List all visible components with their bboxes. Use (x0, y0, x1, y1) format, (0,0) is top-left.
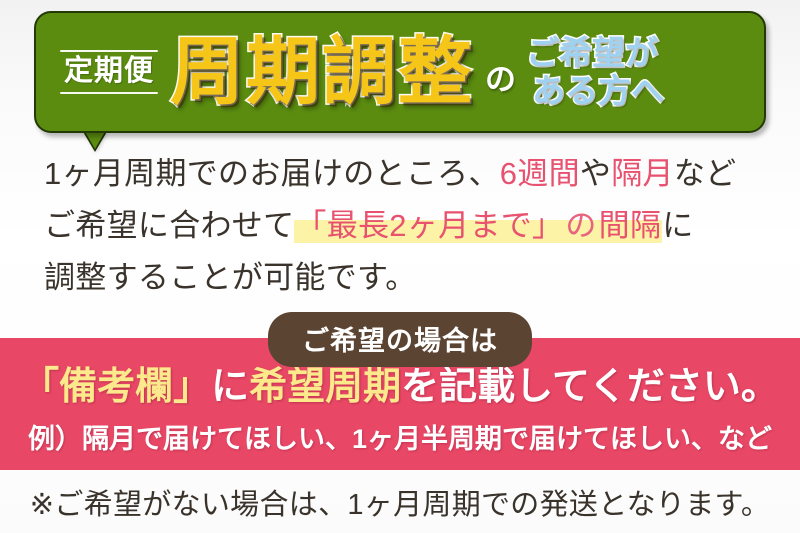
banner-subtitle-line-2: ある方へ (526, 72, 664, 110)
callout-cycle-name: 希望周期 (249, 366, 401, 408)
callout-part-d: を記載してください。 (401, 366, 779, 408)
banner-title: 周期調整 (170, 35, 474, 109)
status-badge: ご希望の場合は (268, 312, 532, 367)
callout-main-text: 「備考欄」に希望周期を記載してください。 (21, 368, 779, 406)
body-line-2-highlight-max: 「最長2ヶ月まで」 (294, 208, 564, 243)
subscription-label: 定期便 (64, 55, 154, 88)
subscription-label-block: 定期便 (60, 46, 158, 97)
rule-bottom (60, 92, 158, 94)
body-line-2-part-c: の (564, 208, 597, 243)
banner-title-particle: の (485, 64, 516, 95)
callout-part-b: に (211, 366, 249, 408)
body-line-1-part-a: 1ヶ月周期でのお届けのところ、 (44, 156, 500, 191)
body-line-1-part-c: や (580, 156, 611, 191)
body-line-2-part-a: ご希望に合わせて (44, 208, 294, 243)
footnote-text: ※ご希望がない場合は、1ヶ月周期での発送となります。 (30, 481, 770, 523)
body-line-2-part-e: に (662, 208, 693, 243)
body-line-3: 調整することが可能です。 (44, 252, 774, 304)
body-line-1-highlight-bimonthly: 隔月 (611, 156, 674, 191)
callout-field-name: 「備考欄」 (21, 366, 211, 408)
banner-subtitle-block: ご希望が ある方へ (526, 34, 664, 109)
body-line-2: ご希望に合わせて「最長2ヶ月まで」の間隔に (44, 200, 774, 252)
callout-example-text: 例）隔月で届けてほしい、1ヶ月半周期で届けてほしい、など (28, 426, 772, 453)
body-paragraph: 1ヶ月周期でのお届けのところ、6週間や隔月など ご希望に合わせて「最長2ヶ月まで… (44, 148, 774, 304)
banner-subtitle-line-1: ご希望が (526, 34, 664, 72)
banner-body: 定期便 周期調整 の ご希望が ある方へ (34, 11, 766, 133)
body-line-2-highlight-interval: 間隔 (598, 208, 663, 243)
promo-graphic: 定期便 周期調整 の ご希望が ある方へ 1ヶ月周期でのお届けのところ、6週間や… (0, 0, 800, 533)
header-banner: 定期便 周期調整 の ご希望が ある方へ (34, 11, 766, 133)
body-line-1-highlight-weeks: 6週間 (500, 156, 580, 191)
body-line-1: 1ヶ月周期でのお届けのところ、6週間や隔月など (44, 148, 774, 200)
rule-top (60, 50, 158, 52)
body-line-1-part-e: など (674, 156, 737, 191)
